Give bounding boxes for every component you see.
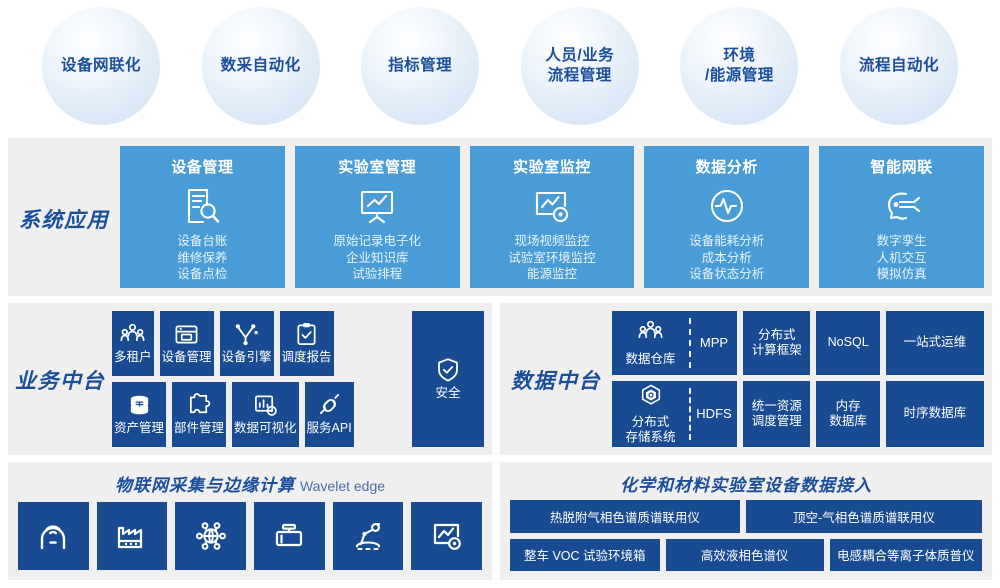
system-application-label: 系统应用 [8, 204, 120, 234]
data-platform-grid: 数据仓库 MPP 分布式 计算框架 NoSQL 一站式运维 [612, 311, 984, 447]
capability-bubble[interactable]: 数采自动化 [202, 7, 320, 125]
app-card-subtitle: 设备能耗分析 成本分析 设备状态分析 [689, 233, 764, 283]
tile-label: 部件管理 [174, 421, 224, 436]
app-card-title: 智能网联 [870, 156, 932, 177]
monitor-eye-icon [532, 186, 572, 226]
chart-view-icon [253, 393, 278, 418]
tile-timeseries-database[interactable]: 时序数据库 [886, 381, 984, 448]
capability-bubble-label: 流程自动化 [859, 56, 939, 76]
data-platform-tile-rows: 数据仓库 MPP 分布式 计算框架 NoSQL 一站式运维 [612, 311, 984, 447]
presentation-chart-icon [357, 186, 397, 226]
tile-label: NoSQL [828, 335, 869, 350]
tile-label: 数据仓库 [625, 352, 675, 367]
lab-chip-voc-chamber[interactable]: 整车 VOC 试验环境箱 [510, 539, 660, 572]
tile-label: 设备引擎 [222, 350, 272, 365]
lab-chip-label: 热脱附气相色谱质谱联用仪 [550, 507, 700, 526]
tile-label: 一站式运维 [904, 335, 967, 350]
tile-label: 时序数据库 [904, 406, 967, 421]
tile-distributed-storage[interactable]: 分布式 存储系统 HDFS [612, 381, 737, 448]
app-card-intelligent-connectivity[interactable]: 智能网联 数字孪生 人机交互 模拟仿真 [819, 146, 984, 288]
pulse-circle-icon [707, 186, 747, 226]
tile-device-management[interactable]: 设备管理 [160, 311, 214, 376]
tile-schedule-report[interactable]: 调度报告 [280, 311, 334, 376]
device-box-icon [174, 322, 199, 347]
wireless-gateway-icon [36, 519, 70, 553]
capability-bubble-label: 设备网联化 [61, 56, 141, 76]
capability-bubble[interactable]: 指标管理 [361, 7, 479, 125]
iot-tile-monitor-chart[interactable] [411, 502, 482, 570]
combo-primary: 数据仓库 [612, 311, 689, 375]
tile-asset-management[interactable]: 资产管理 [112, 382, 166, 447]
tile-label: 多租户 [114, 350, 152, 365]
lab-chip-label: 电感耦合等离子体质普仪 [837, 545, 975, 564]
system-application-panel: 系统应用 设备管理 设备台账 维修保养 设备点检 实验室管理 [8, 138, 992, 296]
machine-valve-icon [272, 519, 306, 553]
system-application-card-list: 设备管理 设备台账 维修保养 设备点检 实验室管理 [120, 146, 984, 288]
app-card-device-management[interactable]: 设备管理 设备台账 维修保养 设备点检 [120, 146, 285, 288]
engine-node-icon [234, 322, 259, 347]
tile-component-management[interactable]: 部件管理 [172, 382, 226, 447]
robot-arm-icon [351, 519, 385, 553]
tile-label: 内存 数据库 [829, 399, 867, 430]
tile-in-memory-database[interactable]: 内存 数据库 [816, 381, 879, 448]
document-search-icon [182, 186, 222, 226]
tile-one-stop-ops[interactable]: 一站式运维 [886, 311, 984, 375]
tile-label: 服务API [307, 421, 352, 436]
data-platform-label: 数据中台 [500, 365, 612, 395]
lab-chip-label: 顶空-气相色谱质谱联用仪 [793, 507, 935, 526]
app-card-subtitle: 设备台账 维修保养 设备点检 [177, 233, 227, 283]
tile-device-engine[interactable]: 设备引擎 [220, 311, 274, 376]
tile-label: 资产管理 [114, 421, 164, 436]
tile-label: 分布式 存储系统 [625, 415, 675, 446]
multi-tenant-icon [120, 322, 145, 347]
clipboard-check-icon [294, 322, 319, 347]
factory-icon [115, 519, 149, 553]
combo-primary: 分布式 存储系统 [612, 381, 689, 448]
iot-edge-panel: 物联网采集与边缘计算Wavelet edge [8, 462, 492, 580]
data-platform-row-1: 数据仓库 MPP 分布式 计算框架 NoSQL 一站式运维 [612, 311, 984, 375]
distributed-storage-icon [639, 383, 663, 412]
capability-bubble[interactable]: 设备网联化 [42, 7, 160, 125]
capability-bubble[interactable]: 流程自动化 [840, 7, 958, 125]
app-card-title: 实验室监控 [513, 156, 591, 177]
app-card-subtitle: 现场视频监控 试验室环境监控 能源监控 [508, 233, 596, 283]
lab-chip-icp-ms[interactable]: 电感耦合等离子体质普仪 [830, 539, 982, 572]
business-platform-row-2: 资产管理 部件管理 [112, 382, 406, 447]
tile-data-visualization[interactable]: 数据可视化 [232, 382, 299, 447]
tile-label: 统一资源 调度管理 [752, 399, 802, 430]
tile-service-api[interactable]: 服务API [305, 382, 354, 447]
app-card-subtitle: 数字孪生 人机交互 模拟仿真 [877, 233, 927, 283]
lab-devices-row-1: 热脱附气相色谱质谱联用仪 顶空-气相色谱质谱联用仪 [510, 500, 982, 533]
lab-chip-headspace-gcms[interactable]: 顶空-气相色谱质谱联用仪 [746, 500, 982, 533]
combo-tag: MPP [691, 311, 737, 375]
data-platform-row-2: 分布式 存储系统 HDFS 统一资源 调度管理 内存 数据库 时序数据库 [612, 381, 984, 448]
iot-edge-title-text: 物联网采集与边缘计算 [115, 476, 295, 495]
tile-label: 调度报告 [282, 350, 332, 365]
lab-devices-title: 化学和材料实验室设备数据接入 [500, 462, 992, 496]
lab-devices-row-2: 整车 VOC 试验环境箱 高效液相色谱仪 电感耦合等离子体质普仪 [510, 539, 982, 572]
lab-chip-label: 高效液相色谱仪 [701, 545, 789, 564]
business-platform-panel: 业务中台 多租户 [8, 303, 492, 455]
tile-label: 数据可视化 [234, 421, 297, 436]
capability-bubble[interactable]: 人员/业务 流程管理 [521, 7, 639, 125]
tile-label: 安全 [435, 386, 460, 401]
tile-security[interactable]: 安全 [412, 311, 484, 447]
combo-tag: HDFS [691, 381, 737, 448]
capability-bubble-label: 人员/业务 流程管理 [545, 46, 614, 87]
data-warehouse-icon [638, 319, 663, 349]
tile-nosql[interactable]: NoSQL [816, 311, 879, 375]
tile-multi-tenant[interactable]: 多租户 [112, 311, 154, 376]
lab-chip-hplc[interactable]: 高效液相色谱仪 [666, 539, 824, 572]
iot-tile-factory[interactable] [97, 502, 168, 570]
capability-bubble-label: 指标管理 [388, 56, 452, 76]
app-card-data-analysis[interactable]: 数据分析 设备能耗分析 成本分析 设备状态分析 [644, 146, 809, 288]
lab-chip-label: 整车 VOC 试验环境箱 [524, 545, 646, 564]
business-platform-row-1: 多租户 设备管理 [112, 311, 406, 376]
iot-tile-robot-arm[interactable] [333, 502, 404, 570]
app-card-lab-monitoring[interactable]: 实验室监控 现场视频监控 试验室环境监控 能源监控 [470, 146, 635, 288]
app-card-title: 设备管理 [171, 156, 233, 177]
app-card-title: 实验室管理 [338, 156, 416, 177]
tile-label: 设备管理 [162, 350, 212, 365]
business-platform-tile-rows: 多租户 设备管理 [112, 311, 406, 447]
shield-check-icon [435, 357, 461, 383]
iot-tile-wireless-gateway[interactable] [18, 502, 89, 570]
plug-api-icon [317, 393, 342, 418]
iot-tile-machine-valve[interactable] [254, 502, 325, 570]
capability-bubble-row: 设备网联化 数采自动化 指标管理 人员/业务 流程管理 环境 /能源管理 流程自… [0, 0, 1000, 132]
app-card-title: 数据分析 [696, 156, 758, 177]
tile-data-warehouse[interactable]: 数据仓库 MPP [612, 311, 737, 375]
capability-bubble[interactable]: 环境 /能源管理 [680, 7, 798, 125]
iot-edge-tile-list [18, 502, 482, 570]
lab-chip-thermal-desorption-gcms[interactable]: 热脱附气相色谱质谱联用仪 [510, 500, 740, 533]
lab-devices-chip-list: 热脱附气相色谱质谱联用仪 顶空-气相色谱质谱联用仪 整车 VOC 试验环境箱 高… [510, 500, 982, 571]
app-card-subtitle: 原始记录电子化 企业知识库 试验排程 [333, 233, 421, 283]
data-platform-panel: 数据中台 [500, 303, 992, 455]
iot-network-globe-icon [194, 519, 228, 553]
tile-distributed-compute-framework[interactable]: 分布式 计算框架 [743, 311, 810, 375]
tile-unified-resource-scheduling[interactable]: 统一资源 调度管理 [743, 381, 810, 448]
iot-edge-subtitle: Wavelet edge [300, 478, 385, 494]
ai-head-icon [882, 186, 922, 226]
business-platform-label: 业务中台 [8, 365, 112, 395]
capability-bubble-label: 环境 /能源管理 [705, 46, 774, 87]
business-platform-grid: 多租户 设备管理 [112, 311, 484, 447]
iot-tile-network-globe[interactable] [175, 502, 246, 570]
capability-bubble-label: 数采自动化 [221, 56, 301, 76]
iot-edge-title: 物联网采集与边缘计算Wavelet edge [8, 462, 492, 496]
puzzle-icon [187, 393, 212, 418]
architecture-diagram: 设备网联化 数采自动化 指标管理 人员/业务 流程管理 环境 /能源管理 流程自… [0, 0, 1000, 588]
tile-label: 分布式 计算框架 [752, 328, 802, 359]
asset-database-icon [127, 393, 152, 418]
monitor-chart-icon [430, 519, 464, 553]
app-card-lab-management[interactable]: 实验室管理 原始记录电子化 企业知识库 试验排程 [295, 146, 460, 288]
lab-devices-panel: 化学和材料实验室设备数据接入 热脱附气相色谱质谱联用仪 顶空-气相色谱质谱联用仪… [500, 462, 992, 580]
